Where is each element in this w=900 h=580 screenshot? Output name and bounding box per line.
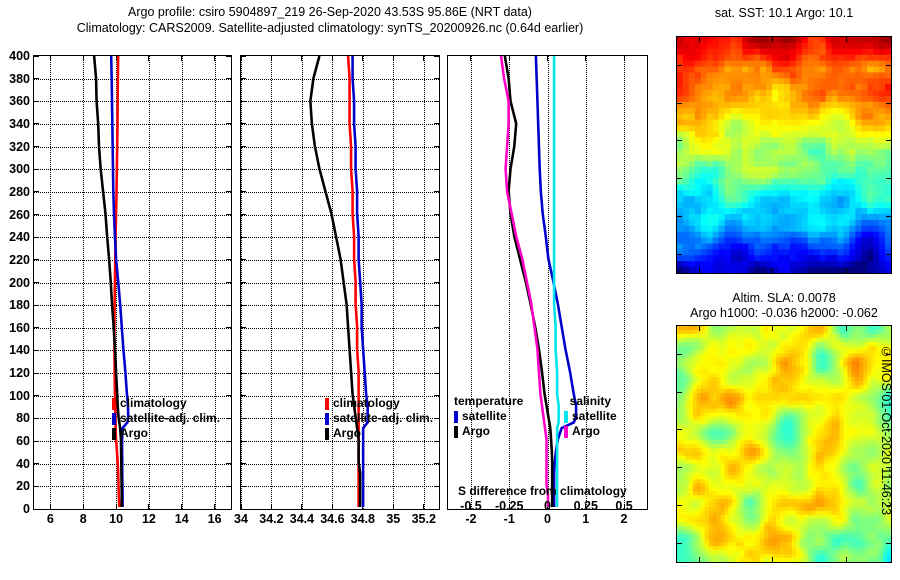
tick-mark: [772, 37, 773, 42]
tick-mark: [699, 326, 700, 331]
salinity-difference-tick-label: -0.5: [460, 499, 482, 513]
depth-tick-label: 60: [16, 434, 30, 448]
legend-label: satellite-adj. clim.: [333, 411, 433, 426]
depth-tick-label: 160: [9, 321, 30, 335]
salinity-difference-tick-label: 0.5: [615, 499, 632, 513]
sla-map-title-line-1: Altim. SLA: 0.0078: [676, 291, 892, 305]
depth-tick-label: 200: [9, 276, 30, 290]
tick-mark: [699, 37, 700, 42]
sla-map[interactable]: 9095100-38-40-42-44-46-48: [676, 325, 892, 563]
legend-item: Argo: [454, 424, 523, 439]
tick-mark: [846, 326, 847, 331]
x-axis-tick-label: 34.4: [290, 512, 314, 526]
sst-map[interactable]: 9095100-38-40-42-44-46-48: [676, 36, 892, 274]
temperature-curves: [34, 56, 231, 509]
imos-credit: ©IMOS 01-Oct-2020 11:46:23: [879, 345, 893, 515]
depth-tick-label: 400: [9, 49, 30, 63]
legend-label: Argo: [462, 424, 490, 439]
x-axis-tick-label: 10: [109, 512, 123, 526]
depth-tick-label: 140: [9, 343, 30, 357]
depth-tick-label: 320: [9, 140, 30, 154]
depth-tick-label: 260: [9, 208, 30, 222]
tick-mark: [677, 505, 682, 506]
legend-item: Argo: [564, 424, 617, 439]
tick-mark: [846, 557, 847, 562]
depth-tick-label: 80: [16, 411, 30, 425]
x-axis-tick-label: 14: [175, 512, 189, 526]
title-line-1: Argo profile: csiro 5904897_219 26-Sep-2…: [0, 4, 660, 20]
x-axis-tick-label: 0: [544, 512, 551, 526]
profile-line: [554, 56, 559, 507]
sla-map-title-line-2: Argo h1000: -0.036 h2000: -0.062: [660, 306, 900, 320]
legend-item: satellite-adj. clim.: [325, 411, 433, 426]
salinity-legend: climatologysatellite-adj. clim.Argo: [325, 396, 433, 441]
tick-mark: [677, 429, 682, 430]
tick-mark: [846, 37, 847, 42]
depth-tick-label: 220: [9, 253, 30, 267]
temperature-difference-legend: temperaturesatelliteArgo: [454, 394, 523, 439]
x-axis-tick-label: -1: [504, 512, 515, 526]
tick-mark: [677, 103, 682, 104]
tick-mark: [699, 557, 700, 562]
legend-item: Argo: [325, 426, 433, 441]
tick-mark: [677, 354, 682, 355]
tick-mark: [677, 65, 682, 66]
salinity-difference-axis-label: S difference from climatology: [458, 484, 627, 498]
legend-label: climatology: [120, 396, 187, 411]
sla-field: [677, 326, 891, 562]
x-axis-tick-label: 12: [142, 512, 156, 526]
tick-mark: [772, 326, 773, 331]
depth-tick-label: 280: [9, 185, 30, 199]
depth-tick-label: 360: [9, 94, 30, 108]
tick-mark: [699, 268, 700, 273]
depth-tick-label: 240: [9, 230, 30, 244]
depth-tick-label: 180: [9, 298, 30, 312]
page-title: Argo profile: csiro 5904897_219 26-Sep-2…: [0, 4, 660, 36]
temperature-legend: climatologysatellite-adj. clim.Argo: [112, 396, 220, 441]
depth-tick-label: 100: [9, 389, 30, 403]
tick-mark: [772, 557, 773, 562]
legend-swatch: [564, 426, 568, 438]
legend-swatch: [325, 428, 329, 440]
temperature-profile-panel[interactable]: climatologysatellite-adj. clim.Argo 6810…: [33, 55, 232, 510]
legend-swatch: [112, 413, 116, 425]
tick-mark: [886, 254, 891, 255]
x-axis-tick-label: 34.8: [351, 512, 375, 526]
depth-tick-label: 300: [9, 162, 30, 176]
depth-tick-label: 40: [16, 457, 30, 471]
x-axis-tick-label: 1: [582, 512, 589, 526]
salinity-difference-tick-label: -0.25: [495, 499, 524, 513]
legend-swatch: [112, 428, 116, 440]
legend-swatch: [454, 411, 458, 423]
legend-item: satellite: [454, 409, 523, 424]
tick-mark: [677, 178, 682, 179]
salinity-difference-tick-label: 0.25: [574, 499, 598, 513]
tick-mark: [846, 268, 847, 273]
salinity-profile-panel[interactable]: climatologysatellite-adj. clim.Argo 3434…: [240, 55, 440, 510]
legend-swatch: [112, 398, 116, 410]
tick-mark: [677, 392, 682, 393]
legend-label: Argo: [333, 426, 361, 441]
x-axis-tick-label: 34.2: [259, 512, 283, 526]
tick-mark: [772, 268, 773, 273]
legend-item: satellite-adj. clim.: [112, 411, 220, 426]
legend-label: satellite: [572, 409, 617, 424]
tick-mark: [677, 216, 682, 217]
legend-header: salinity: [564, 394, 617, 409]
tick-mark: [886, 65, 891, 66]
difference-curves: [448, 56, 647, 509]
depth-tick-label: 340: [9, 117, 30, 131]
depth-tick-label: 120: [9, 366, 30, 380]
salinity-difference-legend: salinitysatelliteArgo: [564, 394, 617, 439]
legend-swatch: [564, 411, 568, 423]
sst-map-title: sat. SST: 10.1 Argo: 10.1: [676, 6, 892, 20]
tick-mark: [886, 216, 891, 217]
legend-item: Argo: [112, 426, 220, 441]
legend-label: Argo: [572, 424, 600, 439]
depth-tick-label: 380: [9, 72, 30, 86]
legend-item: satellite: [564, 409, 617, 424]
x-axis-tick-label: -2: [465, 512, 476, 526]
difference-profile-panel[interactable]: temperaturesatelliteArgo salinitysatelli…: [447, 55, 648, 510]
tick-mark: [677, 467, 682, 468]
legend-label: satellite: [462, 409, 507, 424]
legend-label: climatology: [333, 396, 400, 411]
legend-header: temperature: [454, 394, 523, 409]
tick-mark: [677, 254, 682, 255]
legend-label: Argo: [120, 426, 148, 441]
legend-swatch: [454, 426, 458, 438]
legend-swatch: [325, 413, 329, 425]
x-axis-tick-label: 6: [47, 512, 54, 526]
tick-mark: [886, 543, 891, 544]
salinity-curves: [241, 56, 439, 509]
legend-item: climatology: [325, 396, 433, 411]
tick-mark: [886, 103, 891, 104]
legend-label: satellite-adj. clim.: [120, 411, 220, 426]
tick-mark: [677, 140, 682, 141]
x-axis-tick-label: 34.6: [320, 512, 344, 526]
title-line-2: Climatology: CARS2009. Satellite-adjuste…: [0, 20, 660, 36]
x-axis-tick-label: 2: [621, 512, 628, 526]
tick-mark: [677, 543, 682, 544]
x-axis-tick-label: 35: [386, 512, 400, 526]
x-axis-tick-label: 35.2: [412, 512, 436, 526]
x-axis-tick-label: 34: [234, 512, 248, 526]
salinity-difference-tick-label: 0: [544, 499, 551, 513]
tick-mark: [886, 140, 891, 141]
legend-swatch: [325, 398, 329, 410]
tick-mark: [886, 178, 891, 179]
legend-item: climatology: [112, 396, 220, 411]
x-axis-tick-label: 16: [208, 512, 222, 526]
sst-field: [677, 37, 891, 273]
x-axis-tick-label: 8: [80, 512, 87, 526]
depth-tick-label: 0: [23, 502, 30, 516]
depth-tick-label: 20: [16, 479, 30, 493]
profile-line: [505, 56, 552, 507]
